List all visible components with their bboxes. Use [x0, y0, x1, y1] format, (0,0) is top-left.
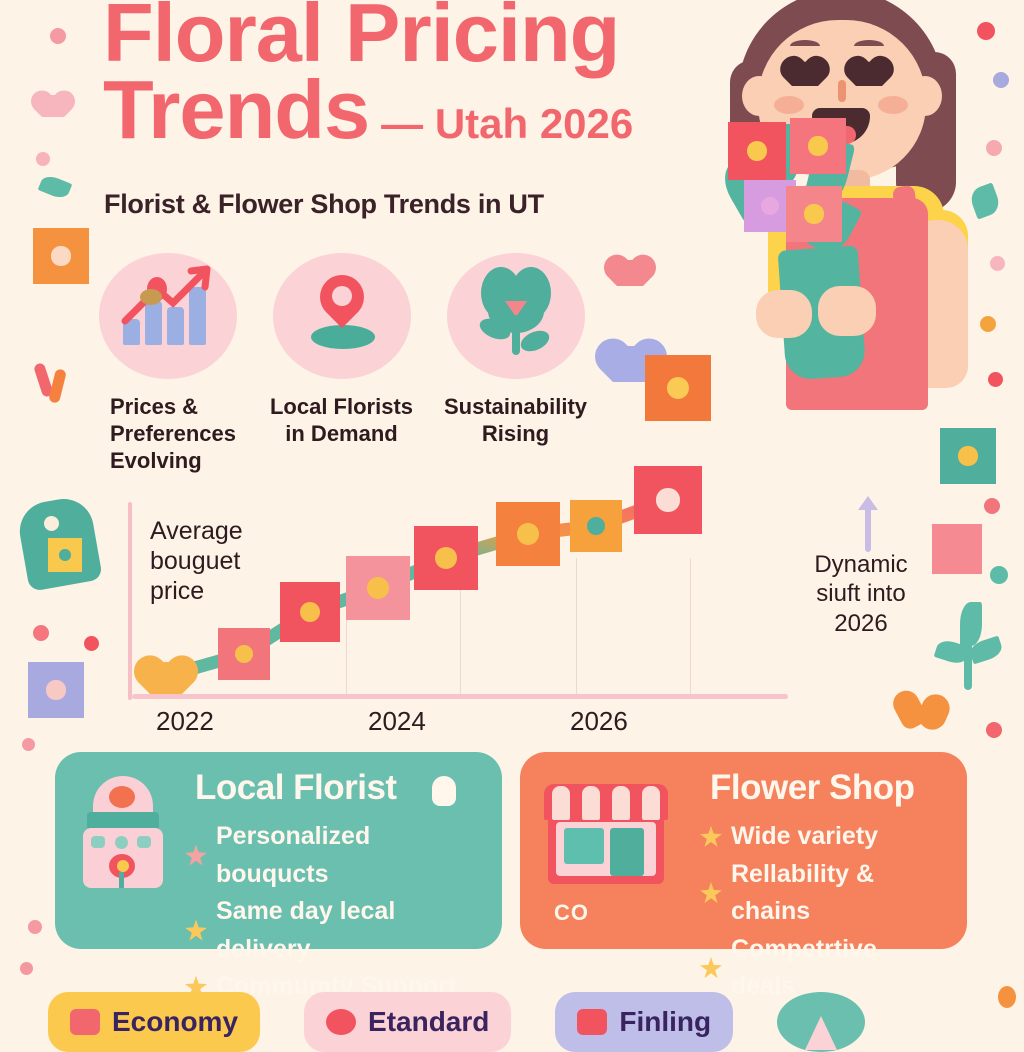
chip-label: Economy [112, 1006, 238, 1038]
thumbs-up-icon [432, 776, 456, 806]
decor-dot [22, 738, 35, 751]
card-local-florist[interactable]: Local Florist Personalized bouqucts Same… [55, 752, 502, 949]
decor-flower-orange [33, 228, 89, 284]
star-bullet-icon [700, 882, 722, 904]
flower-vase-icon [75, 776, 171, 886]
decor-price-tag-icon [22, 500, 96, 586]
decor-heart-purple [613, 346, 649, 382]
chip-teal-circle[interactable] [777, 992, 865, 1052]
flower-bullet-icon [185, 845, 207, 867]
decor-flower-pink [932, 524, 982, 574]
decor-dot [998, 986, 1016, 1008]
decor-dot [50, 28, 66, 44]
chart-marker-heart [150, 662, 182, 694]
chart-xtick-2026: 2026 [570, 706, 628, 737]
infographic-canvas: Floral Pricing Trends — Utah 2026 Floris… [0, 0, 1024, 1024]
decor-sprout-coral [32, 363, 76, 407]
heart-eye-icon [792, 62, 818, 86]
title-suffix: — Utah 2026 [381, 100, 633, 148]
decor-dot [984, 498, 1000, 514]
chip-icon [577, 1009, 607, 1035]
chart-marker-flower [218, 628, 270, 680]
decor-dot [20, 962, 33, 975]
tier-chips-row: Economy Etandard Finling [48, 992, 865, 1052]
decor-dot [993, 72, 1009, 88]
chip-economy[interactable]: Economy [48, 992, 260, 1052]
title-line-1: Floral Pricing [103, 0, 743, 71]
bouquet-flower [728, 122, 786, 180]
chip-standard[interactable]: Etandard [304, 992, 511, 1052]
storefront-icon [544, 776, 668, 888]
bouquet-flower [790, 118, 846, 174]
flower-icon [447, 253, 585, 379]
decor-heart-pink [42, 95, 64, 117]
decor-dot [986, 722, 1002, 738]
decor-dot [84, 636, 99, 651]
trend-arrow-icon [865, 506, 871, 552]
price-trend-chart: Average bouguet price Dynamic siuft into… [128, 438, 788, 700]
co2-footnote: CO [554, 900, 589, 926]
chip-label: Etandard [368, 1006, 489, 1038]
list-item: Wide variety [700, 818, 947, 856]
list-item: Personalized bouqucts [185, 818, 482, 893]
decor-dot [988, 372, 1003, 387]
chip-icon [326, 1009, 356, 1035]
location-pin-icon [273, 253, 411, 379]
decor-flower-teal [940, 428, 996, 484]
decor-flower-purple [28, 662, 84, 718]
list-item: Rellability & chains [700, 856, 947, 931]
decor-heart-coral [617, 260, 643, 286]
page-title: Floral Pricing Trends — Utah 2026 [103, 0, 743, 148]
florist-illustration [690, 0, 990, 410]
page-subtitle: Florist & Flower Shop Trends in UT [104, 189, 544, 220]
decor-dot [990, 566, 1008, 584]
decor-dot [990, 256, 1005, 271]
chart-y-axis-label: Average bouguet price [150, 516, 290, 606]
chart-marker-flower [570, 500, 622, 552]
chart-xtick-2024: 2024 [368, 706, 426, 737]
decor-leaf [38, 173, 73, 201]
decor-dot [33, 625, 49, 641]
decor-dot [28, 920, 42, 934]
star-bullet-icon [700, 957, 722, 979]
star-bullet-icon [700, 826, 722, 848]
chart-annotation: Dynamic siuft into 2026 [796, 550, 926, 638]
heart-eye-icon [856, 62, 882, 86]
chip-finling[interactable]: Finling [555, 992, 733, 1052]
chart-marker-flower [346, 556, 410, 620]
chart-marker-flower [414, 526, 478, 590]
comparison-cards: Local Florist Personalized bouqucts Same… [55, 752, 967, 949]
decor-petal-orange [896, 690, 958, 730]
chip-label: Finling [619, 1006, 711, 1038]
bouquet-flower [786, 186, 842, 242]
chart-xtick-2022: 2022 [156, 706, 214, 737]
decor-dot [36, 152, 50, 166]
chart-marker-flower [496, 502, 560, 566]
chip-icon [70, 1009, 100, 1035]
decor-plant-sprig [936, 600, 1002, 690]
star-bullet-icon [185, 920, 207, 942]
list-item: Same day lecal delivery [185, 893, 482, 968]
chart-marker-flower [634, 466, 702, 534]
card-flower-shop[interactable]: CO Flower Shop Wide variety Rellability … [520, 752, 967, 949]
title-line-2: Trends [103, 71, 369, 148]
bar-chart-rising-icon [99, 253, 237, 379]
